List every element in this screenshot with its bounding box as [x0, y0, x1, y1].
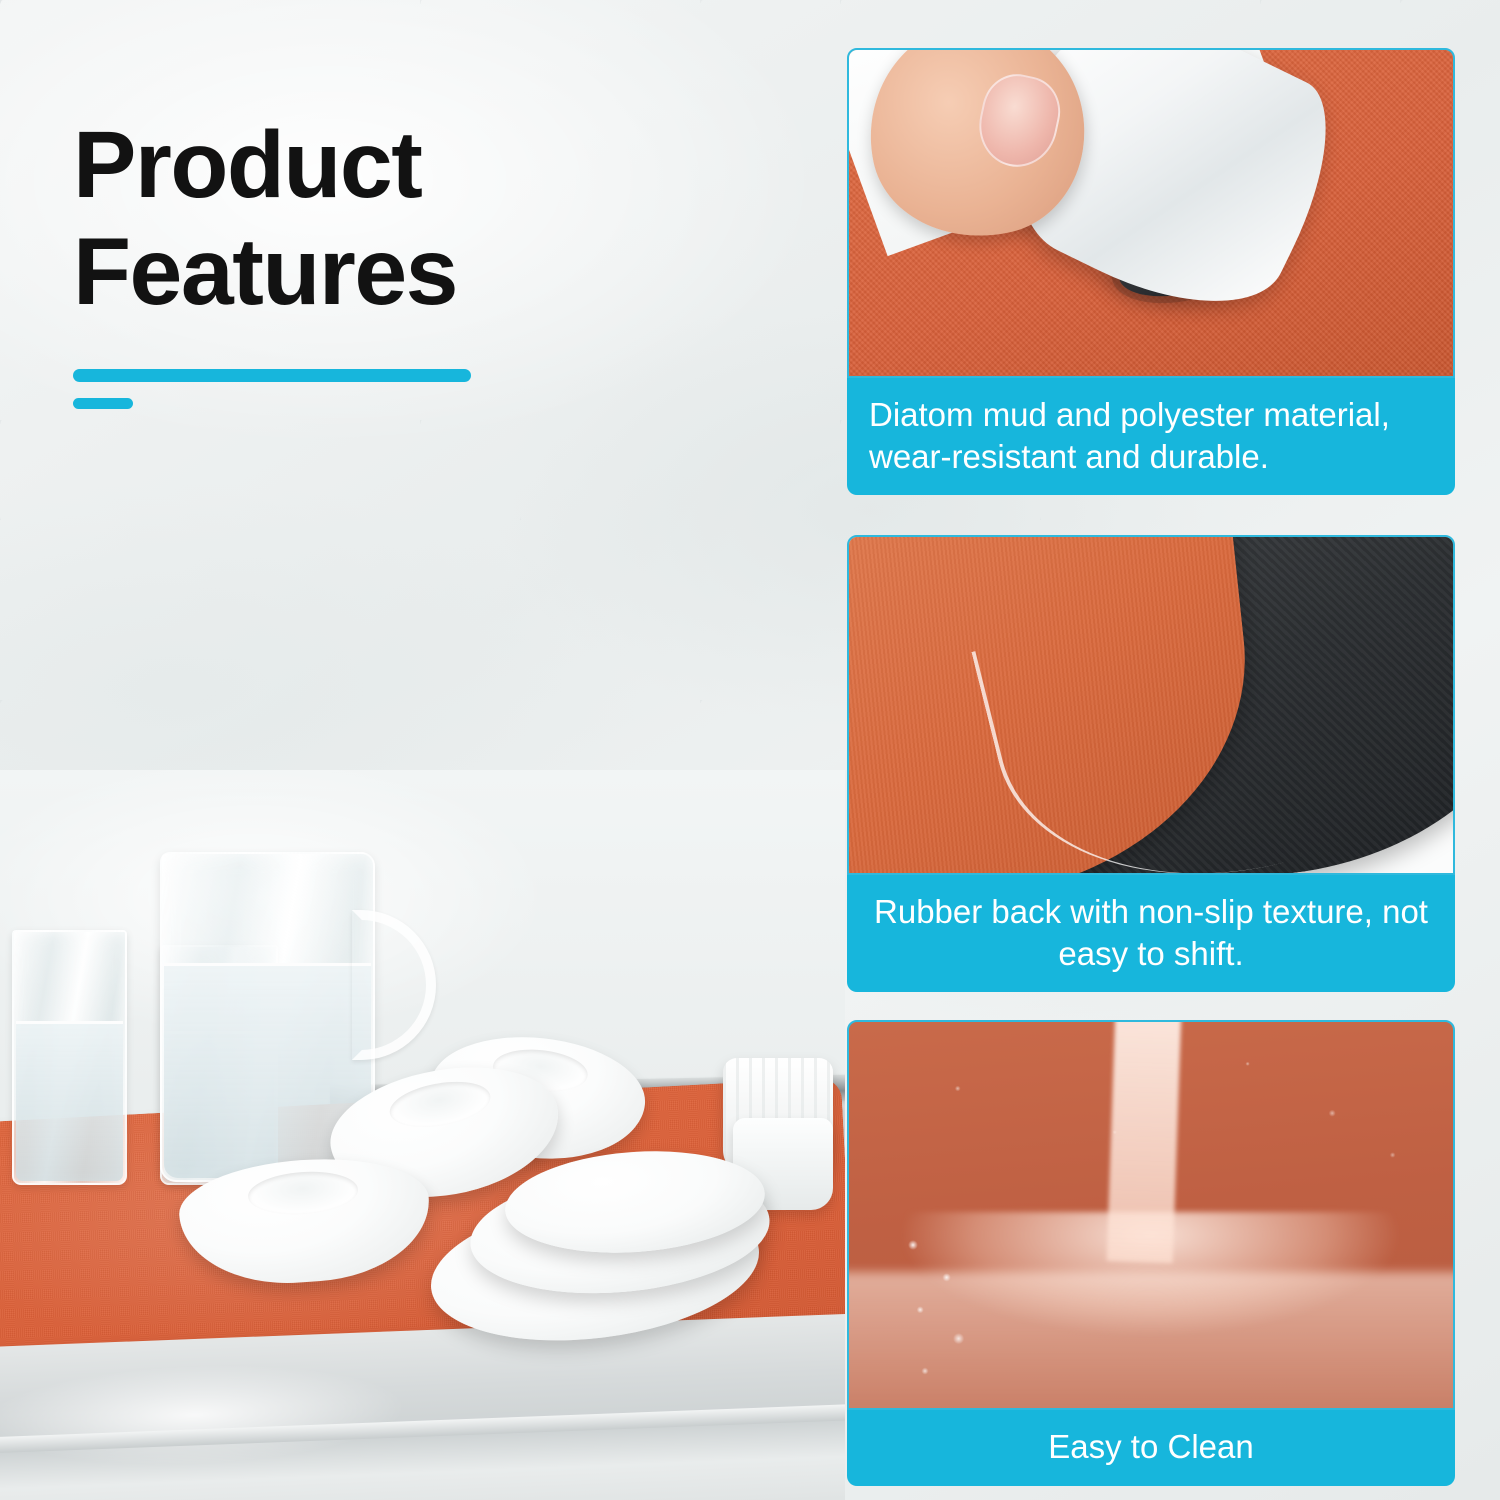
feature-caption-absorbent-material: Diatom mud and polyester material, wear-…: [847, 378, 1455, 495]
thumbnail: [971, 68, 1066, 174]
drinking-glass-1: [12, 930, 127, 1185]
water-stream: [1107, 1020, 1182, 1263]
feature-caption-rubber-back: Rubber back with non-slip texture, not e…: [847, 875, 1455, 992]
feature-image-rubber-back: [847, 535, 1455, 875]
accent-bar-long: [73, 369, 471, 382]
title-line-1: Product: [73, 112, 693, 219]
bowl-foot-ring: [386, 1074, 493, 1133]
title-line-2: Features: [73, 219, 693, 326]
water-bubbles: [889, 1227, 1009, 1407]
feature-caption-easy-to-clean: Easy to Clean: [847, 1410, 1455, 1486]
feature-panel-easy-to-clean: Easy to Clean: [847, 1020, 1455, 1486]
feature-image-easy-to-clean: [847, 1020, 1455, 1410]
feature-panel-non-slip-rubber-back: Rubber back with non-slip texture, not e…: [847, 535, 1455, 992]
accent-bar-short: [73, 398, 133, 409]
hero-photo-dish-drying-mat: [0, 770, 845, 1500]
glass-water: [16, 1021, 123, 1181]
feature-panel-absorbent-material: Diatom mud and polyester material, wear-…: [847, 48, 1455, 495]
bowl-foot-ring: [247, 1168, 360, 1217]
page-title: Product Features: [73, 112, 693, 409]
feature-image-absorbent-material: [847, 48, 1455, 378]
accent-bars: [73, 369, 693, 409]
